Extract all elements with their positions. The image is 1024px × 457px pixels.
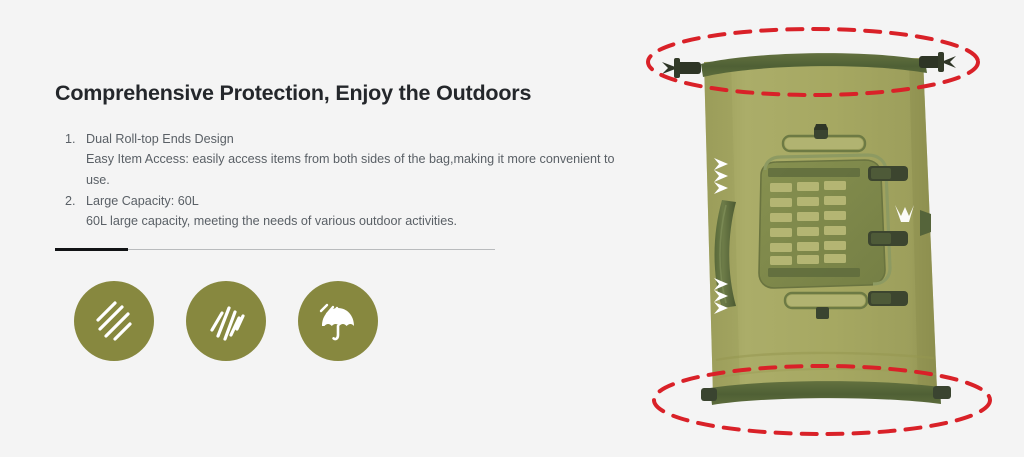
list-item-description: Easy Item Access: easily access items fr… xyxy=(86,149,615,190)
product-illustration xyxy=(600,0,1024,457)
list-item-description: 60L large capacity, meeting the needs of… xyxy=(86,211,615,231)
section-divider xyxy=(55,248,495,251)
list-item-number: 2. xyxy=(65,191,76,211)
page-title: Comprehensive Protection, Enjoy the Outd… xyxy=(55,80,615,107)
product-feature-panel: Comprehensive Protection, Enjoy the Outd… xyxy=(0,0,1024,457)
divider-line xyxy=(128,249,495,250)
list-item: 1. Dual Roll-top Ends Design Easy Item A… xyxy=(55,129,615,190)
feature-icon-scratch-resistant[interactable] xyxy=(74,281,154,361)
list-item-title: Dual Roll-top Ends Design xyxy=(86,129,615,149)
list-item: 2. Large Capacity: 60L 60L large capacit… xyxy=(55,191,615,232)
feature-icon-row xyxy=(74,281,378,361)
text-column: Comprehensive Protection, Enjoy the Outd… xyxy=(55,80,615,233)
rain-streaks-icon xyxy=(201,296,251,346)
feature-list: 1. Dual Roll-top Ends Design Easy Item A… xyxy=(55,129,615,232)
product-image xyxy=(600,0,1024,457)
left-buckle-icon xyxy=(662,58,701,78)
feature-icon-rainproof[interactable] xyxy=(186,281,266,361)
list-item-number: 1. xyxy=(65,129,76,149)
feature-icon-waterproof[interactable] xyxy=(298,281,378,361)
bottom-roll-top-closure xyxy=(701,381,951,405)
umbrella-waterproof-icon xyxy=(312,295,364,347)
list-item-title: Large Capacity: 60L xyxy=(86,191,615,211)
scratch-resistant-icon xyxy=(89,296,139,346)
divider-accent-segment xyxy=(55,248,128,251)
